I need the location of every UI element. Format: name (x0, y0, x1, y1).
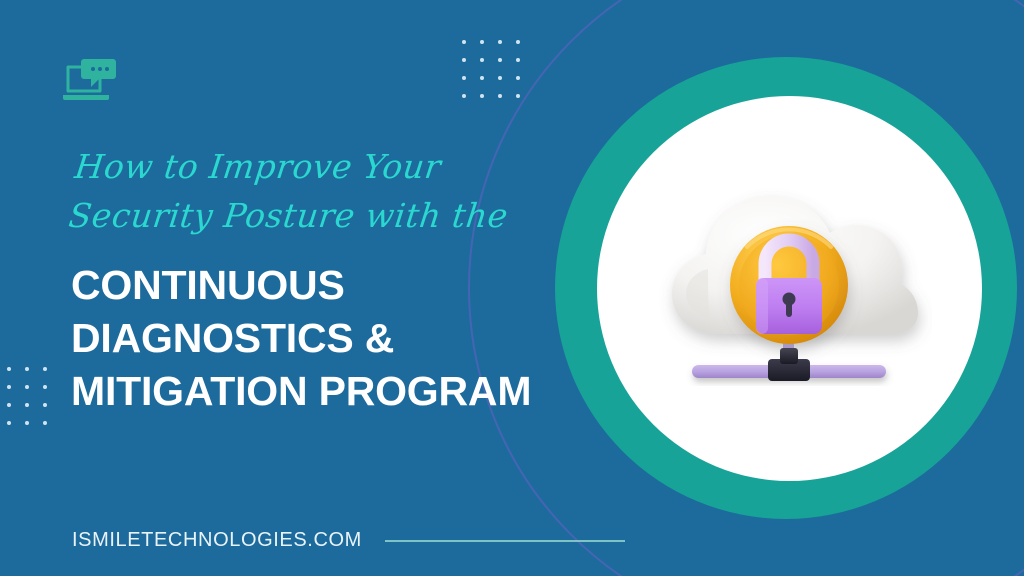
headline-line-3: MITIGATION PROGRAM (71, 365, 591, 418)
site-url: ISMILETECHNOLOGIES.COM (72, 529, 362, 552)
footer-divider (385, 540, 625, 542)
kicker-line-2: Security Posture with the (66, 191, 512, 240)
promo-banner: How to Improve Your Security Posture wit… (0, 0, 1024, 576)
laptop-chat-icon (62, 56, 120, 108)
kicker-line-1: How to Improve Your (72, 142, 518, 191)
cloud-security-lock-illustration (650, 168, 932, 403)
kicker-text: How to Improve Your Security Posture wit… (66, 142, 518, 240)
dot-grid-left (0, 360, 54, 432)
headline-line-1: CONTINUOUS (71, 259, 591, 312)
headline-line-2: DIAGNOSTICS & (71, 312, 591, 365)
page-title: CONTINUOUS DIAGNOSTICS & MITIGATION PROG… (71, 259, 591, 418)
dot-grid-top (455, 33, 527, 105)
